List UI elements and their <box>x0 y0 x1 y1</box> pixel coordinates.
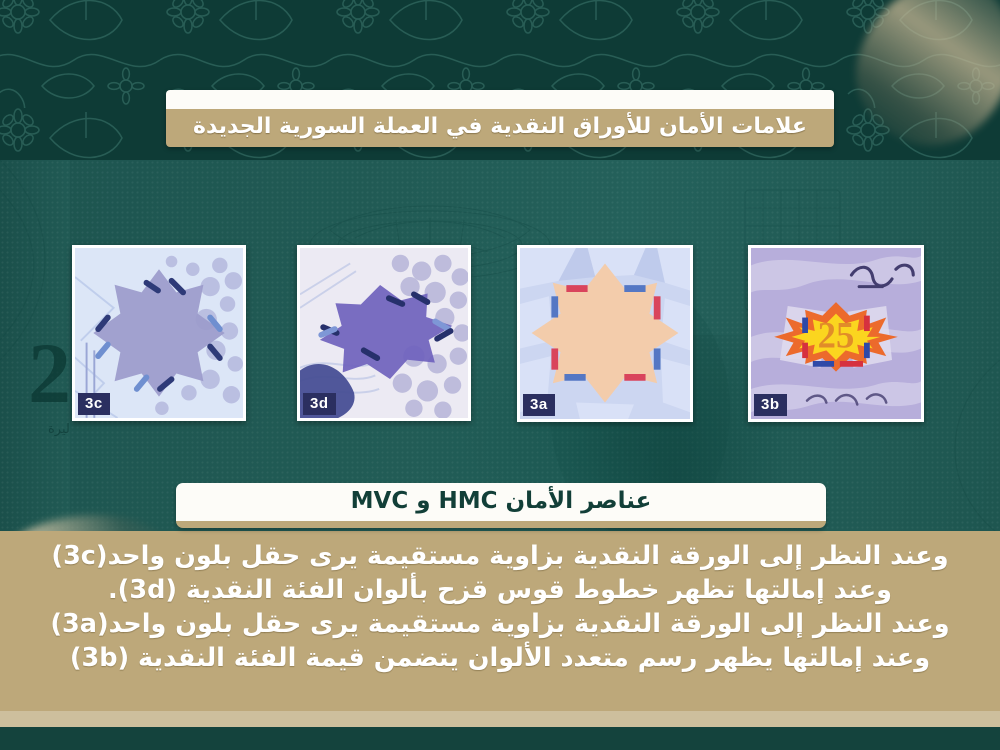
body-line-2: وعند إمالتها تظهر خطوط قوس قزح بألوان ال… <box>108 574 892 608</box>
panel-3d-tag: 3d <box>303 393 336 415</box>
panel-3c-tag: 3c <box>78 393 110 415</box>
panel-3d[interactable]: 3d <box>297 245 471 421</box>
title-plate-body: علامات الأمان للأوراق النقدية في العملة … <box>166 109 834 147</box>
slide-bottom-bar <box>0 727 1000 750</box>
panel-3b-denomination-value: 25 <box>818 314 855 355</box>
subtitle-plate-body: عناصر الأمان HMC و MVC <box>176 483 826 521</box>
slide-title-plate: علامات الأمان للأوراق النقدية في العملة … <box>166 90 834 147</box>
panel-3a[interactable]: 3a <box>517 245 693 422</box>
body-line-4: وعند إمالتها يظهر رسم متعدد الألوان يتضم… <box>70 642 930 676</box>
title-plate-cap <box>166 90 834 109</box>
page-title: علامات الأمان للأوراق النقدية في العملة … <box>181 111 819 146</box>
security-feature-panels: 3c <box>0 245 1000 430</box>
body-line-1: وعند النظر إلى الورقة النقدية بزاوية مست… <box>51 540 948 574</box>
slide-canvas: 25 25 ليرة سورية A 0000 علامات الأمان لل… <box>0 0 1000 750</box>
panel-3a-tag: 3a <box>523 394 555 416</box>
body-text-block: وعند النظر إلى الورقة النقدية بزاوية مست… <box>0 531 1000 727</box>
body-text-bottom-strip <box>0 711 1000 727</box>
subtitle-plate: عناصر الأمان HMC و MVC <box>176 483 826 528</box>
panel-3b-tag: 3b <box>754 394 787 416</box>
panel-3b[interactable]: 25 3b <box>748 245 924 422</box>
panel-3c[interactable]: 3c <box>72 245 246 421</box>
subtitle-plate-footer <box>176 521 826 528</box>
body-line-3: وعند النظر إلى الورقة النقدية بزاوية مست… <box>50 608 949 642</box>
subtitle-text: عناصر الأمان HMC و MVC <box>341 486 662 519</box>
